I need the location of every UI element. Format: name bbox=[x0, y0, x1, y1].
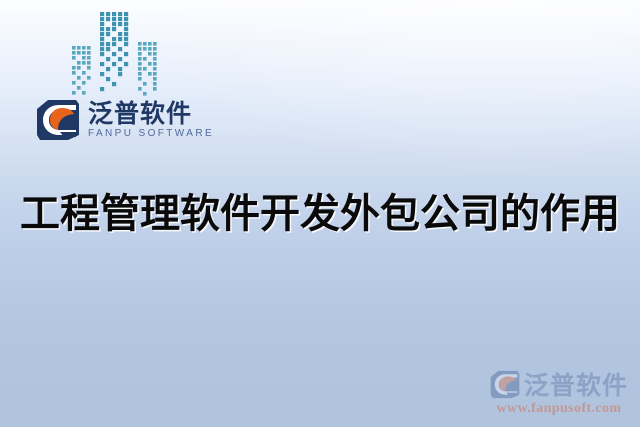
watermark-name-cn: 泛普软件 bbox=[524, 366, 628, 402]
page-title: 工程管理软件开发外包公司的作用 bbox=[0, 181, 640, 239]
brand-name-en: FANPU SOFTWARE bbox=[88, 129, 214, 139]
brand-lockup: 泛普软件 FANPU SOFTWARE bbox=[36, 99, 214, 141]
poster-canvas: 泛普软件 FANPU SOFTWARE 工程管理软件开发外包公司的作用 泛普软件… bbox=[0, 0, 640, 427]
watermark: 泛普软件 www.fanpusoft.com bbox=[490, 366, 628, 417]
watermark-logo-row: 泛普软件 bbox=[490, 366, 628, 402]
fanpu-logo-emblem-icon bbox=[36, 99, 80, 141]
brand-wordmark: 泛普软件 FANPU SOFTWARE bbox=[88, 101, 214, 139]
fanpu-logo-emblem-watermark-icon bbox=[490, 370, 520, 399]
brand-name-cn: 泛普软件 bbox=[88, 101, 214, 126]
pixel-city-skyline-icon bbox=[68, 6, 168, 98]
watermark-url: www.fanpusoft.com bbox=[496, 401, 621, 417]
